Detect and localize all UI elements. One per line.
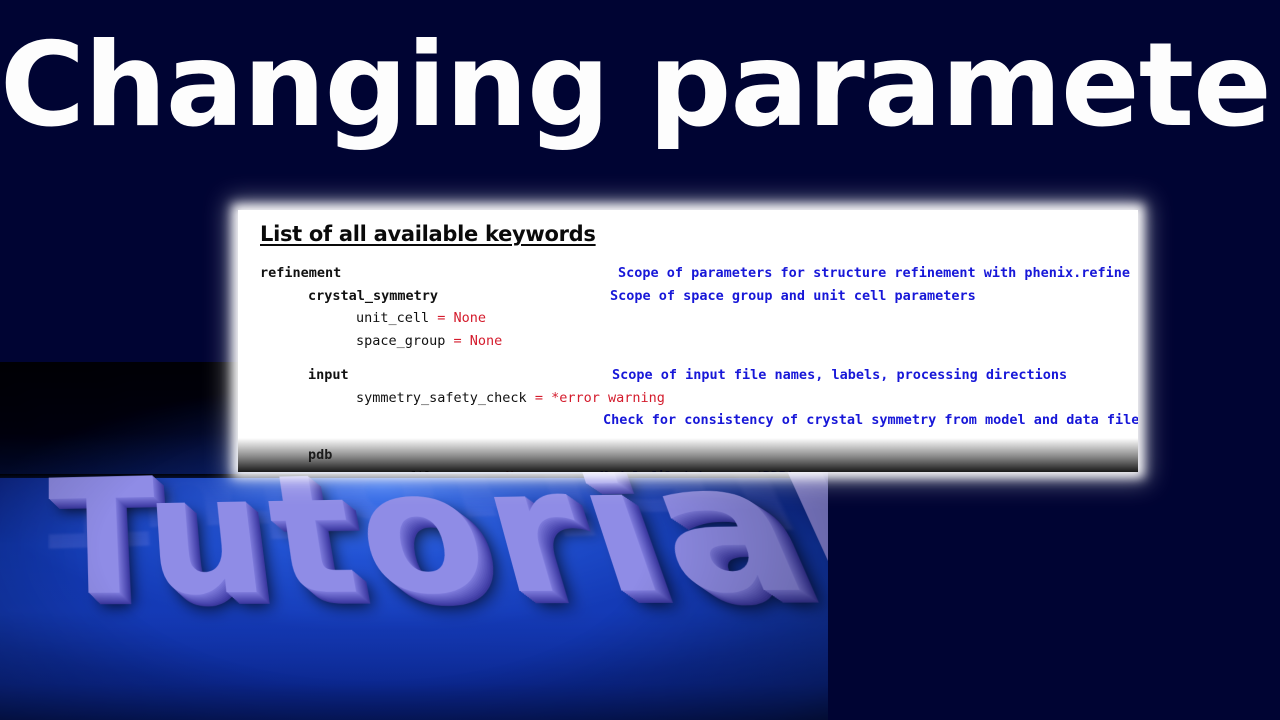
keyword-row-spacer: [260, 352, 1138, 364]
keyword-panel-content: List of all available keywords refinemen…: [238, 210, 1138, 472]
keyword-name: crystal_symmetry: [308, 285, 438, 308]
tutorial-3d-word: Tutorial Tutorial: [48, 450, 808, 650]
keyword-name: space_group = None: [356, 330, 502, 353]
keyword-list: refinementScope of parameters for struct…: [260, 262, 1138, 472]
keyword-value: = None: [429, 310, 486, 326]
keyword-row-spacer: [260, 432, 1138, 444]
keyword-row: crystal_symmetryScope of space group and…: [260, 285, 1138, 308]
keyword-row: pdb: [260, 444, 1138, 467]
keyword-row: unit_cell = None: [260, 307, 1138, 330]
page-title: Changing parameters: [0, 28, 1280, 144]
keyword-name: input: [308, 364, 349, 387]
keyword-value: = None: [481, 469, 538, 472]
keyword-row: file_name = NoneModel file(s) name (PDB): [260, 466, 1138, 472]
keyword-row: inputScope of input file names, labels, …: [260, 364, 1138, 387]
keyword-name: pdb: [308, 444, 332, 467]
keyword-name: unit_cell = None: [356, 307, 486, 330]
keyword-panel-heading: List of all available keywords: [260, 222, 1138, 246]
keyword-row: refinementScope of parameters for struct…: [260, 262, 1138, 285]
keyword-value: = *error warning: [527, 390, 665, 406]
keyword-description: Scope of parameters for structure refine…: [618, 262, 1130, 285]
keyword-name: file_name = None: [408, 466, 538, 472]
keyword-description: Model file(s) name (PDB): [600, 466, 795, 472]
keyword-name: refinement: [260, 262, 341, 285]
keyword-row: symmetry_safety_check = *error warning: [260, 387, 1138, 410]
slide-canvas: Changing parameters Tutorial Tutorial Li…: [0, 0, 1280, 720]
keyword-list-panel: List of all available keywords refinemen…: [238, 210, 1138, 472]
keyword-value: = None: [445, 333, 502, 349]
keyword-description: Scope of space group and unit cell param…: [610, 285, 976, 308]
keyword-description: Scope of input file names, labels, proce…: [612, 364, 1067, 387]
keyword-name: symmetry_safety_check = *error warning: [356, 387, 665, 410]
keyword-description: Check for consistency of crystal symmetr…: [603, 409, 1138, 432]
keyword-row: Check for consistency of crystal symmetr…: [260, 409, 1138, 432]
keyword-row: space_group = None: [260, 330, 1138, 353]
